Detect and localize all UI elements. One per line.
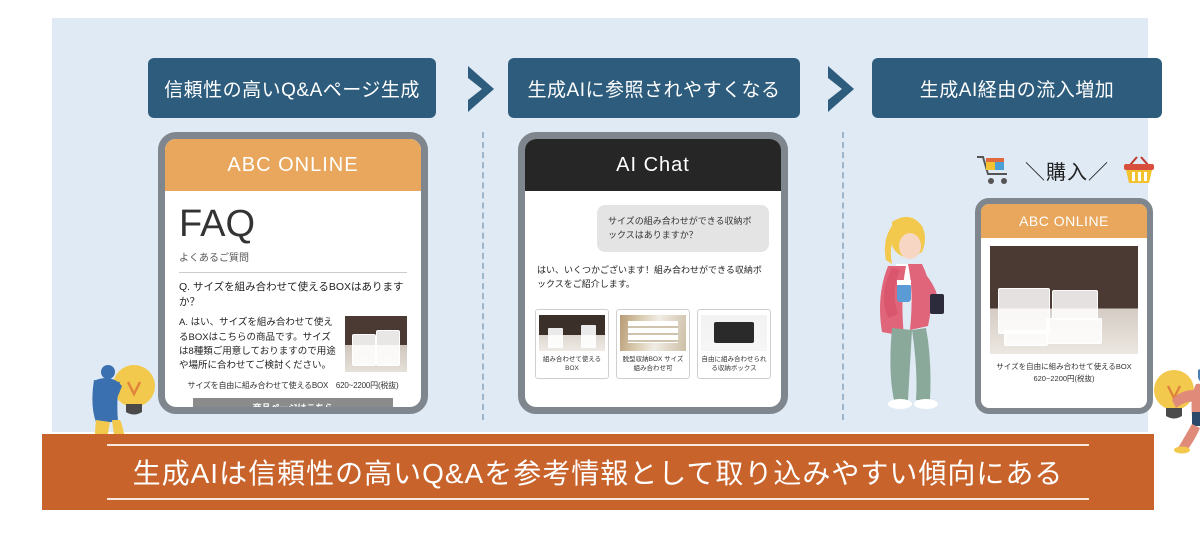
faq-product-thumbnail [345, 316, 407, 372]
chat-user-message: サイズの組み合わせができる収納ボックスはありますか？ [597, 205, 769, 252]
product-card-caption: 脱型収納BOX サイズ組み合わせ可 [620, 355, 686, 375]
step-banner-3: 生成AI経由の流入増加 [872, 58, 1162, 118]
bottom-banner-frame: 生成AIは信頼性の高いQ&Aを参考情報として取り込みやすい傾向にある [107, 444, 1090, 500]
purchase-product-card: ABC ONLINE サイズを自由に組み合わせて使えるBOX 620~2200円… [975, 198, 1153, 414]
purchase-product-image [990, 246, 1138, 354]
phone-mockup-chat: AI Chat サイズの組み合わせができる収納ボックスはありますか？ はい、いく… [518, 132, 788, 414]
faq-question: Q. サイズを組み合わせて使えるBOXはありますか？ [179, 280, 407, 309]
step-banner-1-label: 信頼性の高いQ&Aページ生成 [164, 75, 420, 102]
product-card-caption: 自由に組み合わせられる収納ボックス [701, 355, 767, 375]
faq-answer: A. はい、サイズを組み合わせて使えるBOXはこちらの商品です。サイズは8種類ご… [179, 316, 339, 373]
purchase-product-caption: サイズを自由に組み合わせて使えるBOX 620~2200円(税抜) [981, 361, 1147, 384]
step-banner-1: 信頼性の高いQ&Aページ生成 [148, 58, 436, 118]
step-banner-3-label: 生成AI経由の流入増加 [920, 75, 1114, 102]
purchase-callout: ＼購入／ [972, 146, 1162, 194]
bottom-summary-banner: 生成AIは信頼性の高いQ&Aを参考情報として取り込みやすい傾向にある [42, 434, 1154, 510]
product-image [539, 315, 605, 351]
chevron-right-icon [464, 64, 502, 114]
faq-heading: FAQ [179, 205, 407, 245]
product-card[interactable]: 自由に組み合わせられる収納ボックス [697, 309, 771, 380]
purchase-label: ＼購入／ [1025, 156, 1109, 185]
panel-divider [842, 132, 844, 420]
faq-subheading: よくあるご質問 [179, 249, 407, 264]
bottom-banner-text: 生成AIは信頼性の高いQ&Aを参考情報として取り込みやすい傾向にある [133, 458, 1064, 489]
chat-app-title: AI Chat [525, 139, 781, 191]
step-banner-2-label: 生成AIに参照されやすくなる [528, 75, 781, 102]
shopping-cart-icon [975, 153, 1015, 187]
panel-divider [482, 132, 484, 420]
product-image [620, 315, 686, 351]
step-banner-2: 生成AIに参照されやすくなる [508, 58, 800, 118]
person-with-lightbulb-icon [1148, 356, 1200, 454]
product-card[interactable]: 脱型収納BOX サイズ組み合わせ可 [616, 309, 690, 380]
faq-app-title: ABC ONLINE [165, 139, 421, 191]
chat-product-cards: 組み合わせて使えるBOX 脱型収納BOX サイズ組み合わせ可 自由に組み合わせら… [525, 309, 781, 380]
product-card-caption: 組み合わせて使えるBOX [539, 355, 605, 375]
purchase-app-title: ABC ONLINE [981, 204, 1147, 238]
faq-divider [179, 272, 407, 273]
product-card[interactable]: 組み合わせて使えるBOX [535, 309, 609, 380]
faq-answer-row: A. はい、サイズを組み合わせて使えるBOXはこちらの商品です。サイズは8種類ご… [179, 316, 407, 373]
product-image [701, 315, 767, 351]
phone-mockup-faq: ABC ONLINE FAQ よくあるご質問 Q. サイズを組み合わせて使えるB… [158, 132, 428, 414]
woman-with-smartphone-icon [852, 208, 964, 418]
shopping-basket-icon [1119, 153, 1159, 187]
faq-product-caption: サイズを自由に組み合わせて使えるBOX 620~2200円(税抜) [179, 380, 407, 391]
infographic-stage: 信頼性の高いQ&Aページ生成 生成AIに参照されやすくなる 生成AI経由の流入増… [52, 18, 1148, 432]
chat-message-area: サイズの組み合わせができる収納ボックスはありますか？ はい、いくつかございます！… [525, 191, 781, 298]
chat-ai-message: はい、いくつかございます！組み合わせができる収納ボックスをご紹介します。 [537, 263, 769, 292]
faq-cta-button[interactable]: 商品ページはこちら [193, 398, 393, 414]
chevron-right-icon [824, 64, 862, 114]
